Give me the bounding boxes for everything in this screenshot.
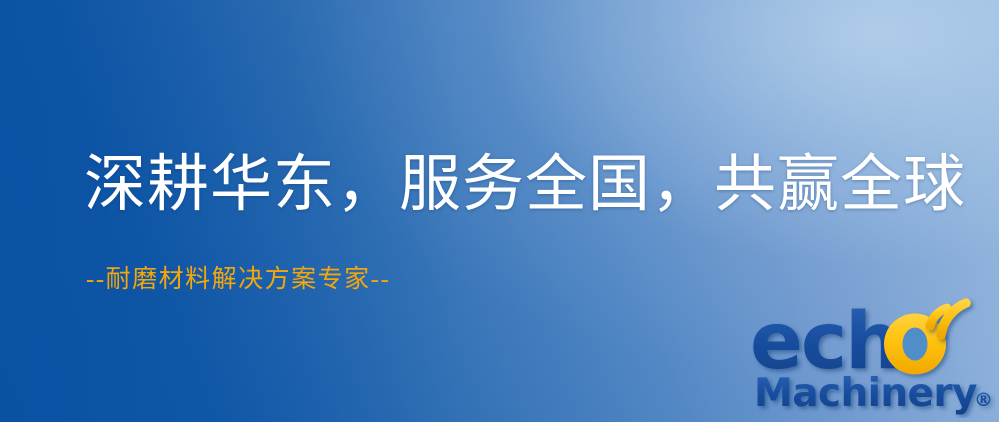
banner-headline: 深耕华东，服务全国，共赢全球 <box>84 153 966 218</box>
logo-mark-icon: ech Machinery ® <box>744 296 996 418</box>
banner-content: 深耕华东，服务全国，共赢全球 --耐磨材料解决方案专家-- echo Machi… <box>0 0 999 422</box>
svg-text:®: ® <box>974 389 993 411</box>
echo-machinery-logo[interactable]: echo Machinery <box>744 296 996 418</box>
svg-text:Machinery: Machinery <box>754 371 977 416</box>
hero-banner: 深耕华东，服务全国，共赢全球 --耐磨材料解决方案专家-- echo Machi… <box>0 0 999 422</box>
banner-subtitle: --耐磨材料解决方案专家-- <box>86 266 390 295</box>
logo-wordmark-text: echo <box>750 292 751 293</box>
